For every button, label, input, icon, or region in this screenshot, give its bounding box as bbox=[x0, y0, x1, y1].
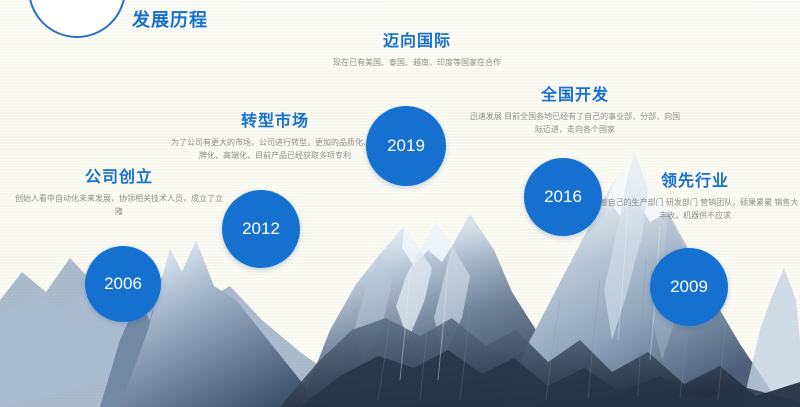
year-bubble-2012[interactable]: 2012 bbox=[222, 190, 300, 268]
milestone-heading: 迈向国际 bbox=[312, 32, 522, 51]
milestone-heading: 全国开发 bbox=[466, 86, 684, 105]
milestone-description: 为了公司有更大的市场，公司进行转型，更加的品质化、品牌化、高端化，目前产品已经获… bbox=[170, 137, 380, 162]
page-title: 发展历程 bbox=[132, 6, 208, 32]
year-bubble-2009[interactable]: 2009 bbox=[650, 248, 728, 326]
milestone-block-market-transition: 转型市场 为了公司有更大的市场，公司进行转型，更加的品质化、品牌化、高端化，目前… bbox=[170, 112, 380, 162]
milestone-heading: 领先行业 bbox=[590, 172, 800, 191]
timeline-slide: 发展历程 公司创立 创始人看中自动化未来发展，协领相关技术人员，成立了立隆 转型… bbox=[0, 0, 800, 407]
milestone-heading: 转型市场 bbox=[170, 112, 380, 131]
milestone-description: 现在已有美国、泰国、越南、印度等国家在合作 bbox=[312, 57, 522, 69]
milestone-description: 有着自己的生产部门 研发部门 营销团队，硕果累累 销售大丰收，机器供不应求 bbox=[590, 197, 800, 222]
milestone-description: 迅速发展 目前全国各地已经有了自己的事业部，分部，向国际迈进，走向各个国家 bbox=[466, 111, 684, 136]
milestone-description: 创始人看中自动化未来发展，协领相关技术人员，成立了立隆 bbox=[14, 193, 224, 218]
milestone-block-industry-leader: 领先行业 有着自己的生产部门 研发部门 营销团队，硕果累累 销售大丰收，机器供不… bbox=[590, 172, 800, 222]
milestone-block-nationwide-expansion: 全国开发 迅速发展 目前全国各地已经有了自己的事业部，分部，向国际迈进，走向各个… bbox=[466, 86, 684, 136]
year-bubble-2019[interactable]: 2019 bbox=[366, 106, 446, 186]
year-bubble-2016[interactable]: 2016 bbox=[524, 158, 602, 236]
milestone-block-company-founded: 公司创立 创始人看中自动化未来发展，协领相关技术人员，成立了立隆 bbox=[14, 168, 224, 218]
milestone-heading: 公司创立 bbox=[14, 168, 224, 187]
year-bubble-2006[interactable]: 2006 bbox=[85, 246, 161, 322]
milestone-block-going-global: 迈向国际 现在已有美国、泰国、越南、印度等国家在合作 bbox=[312, 32, 522, 70]
